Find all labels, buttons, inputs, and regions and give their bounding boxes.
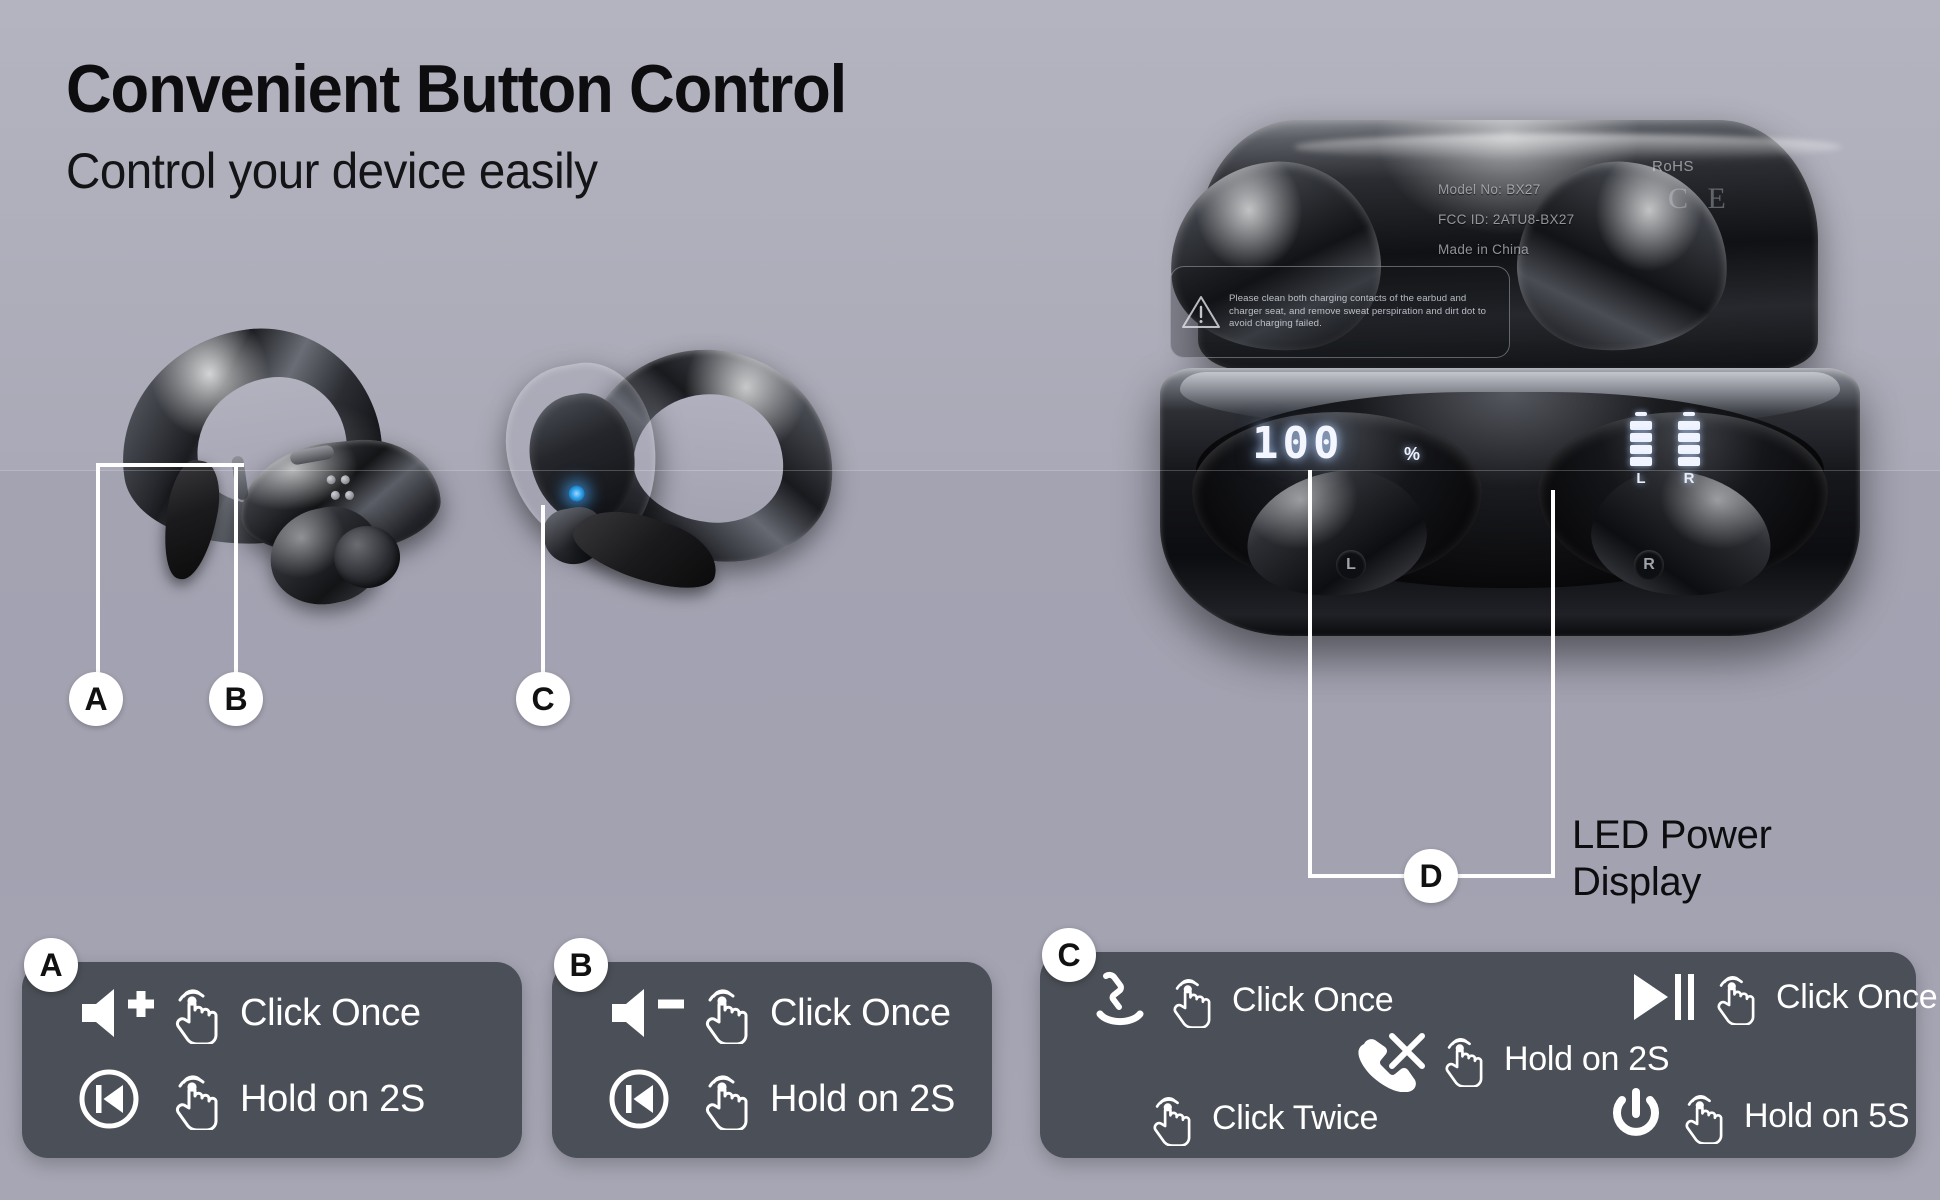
leader-line-d-right	[1551, 490, 1555, 878]
case-led-percent-display: 100 %	[1252, 418, 1492, 494]
seat-label-right: R	[1634, 550, 1664, 580]
earbud-mic-grill	[326, 472, 356, 505]
led-power-display-line2: Display	[1572, 859, 1772, 906]
battery-bar-label-left: L	[1636, 470, 1645, 487]
earbud-ear-tip	[334, 526, 400, 588]
tap-hand-icon	[1170, 972, 1218, 1028]
card-tag-c: C	[1042, 928, 1096, 982]
battery-bar-right: R	[1678, 412, 1700, 508]
ce-mark: C E	[1668, 182, 1732, 216]
card-a-row-2-text: Hold on 2S	[240, 1078, 425, 1121]
phone-reject-icon	[1352, 1026, 1428, 1092]
battery-bar-left: L	[1630, 412, 1652, 508]
card-c-row-reject-text: Hold on 2S	[1504, 1040, 1669, 1079]
card-c-row-reject: Hold on 2S	[1352, 1026, 1669, 1092]
card-c-row-playpause-text: Click Once	[1776, 978, 1937, 1017]
tap-hand-icon	[172, 1068, 226, 1130]
tap-hand-icon	[1442, 1031, 1490, 1087]
rohs-mark: RoHS	[1652, 158, 1694, 175]
tap-hand-icon	[1714, 969, 1762, 1025]
case-warning-text: Please clean both charging contacts of t…	[1229, 293, 1499, 330]
charging-case-lid: Model No: BX27 FCC ID: 2ATU8-BX27 Made i…	[1198, 120, 1818, 370]
card-c-row-answer: Click Once	[1090, 968, 1393, 1032]
front-earbud-render	[500, 340, 900, 660]
tap-hand-icon	[702, 1068, 756, 1130]
callout-bubble-d: D	[1404, 849, 1458, 903]
battery-bar-label-right: R	[1684, 470, 1695, 487]
battery-bar-segments-left	[1630, 412, 1652, 466]
phone-answer-icon	[1090, 968, 1156, 1032]
callout-bubble-a: A	[69, 672, 123, 726]
leader-line-a-horizontal	[96, 463, 244, 467]
callout-letter-d: D	[1419, 858, 1442, 895]
led-power-display-label: LED Power Display	[1572, 812, 1772, 906]
card-c-row-redial-text: Click Twice	[1212, 1099, 1378, 1138]
previous-track-icon	[78, 1068, 158, 1130]
leader-line-d-left	[1308, 470, 1312, 878]
tap-hand-icon	[1150, 1090, 1198, 1146]
play-pause-icon	[1628, 966, 1700, 1028]
tap-hand-icon	[702, 982, 756, 1044]
percent-symbol: %	[1404, 444, 1420, 465]
led-power-display-line1: LED Power	[1572, 812, 1772, 859]
leader-line-c-vertical	[541, 505, 545, 673]
card-c-row-power: Hold on 5S	[1604, 1084, 1909, 1148]
lid-highlight	[1294, 134, 1842, 160]
leader-line-a-vertical	[96, 463, 100, 673]
charging-case-render: Model No: BX27 FCC ID: 2ATU8-BX27 Made i…	[1140, 120, 1880, 660]
card-b-row-1: Click Once	[608, 982, 951, 1044]
left-earbud-render	[120, 330, 520, 660]
card-b-row-1-text: Click Once	[770, 992, 951, 1035]
card-b-row-2: Hold on 2S	[608, 1068, 955, 1130]
callout-bubble-b: B	[209, 672, 263, 726]
battery-percent-value: 100	[1252, 418, 1343, 469]
card-c-row-playpause: Click Once	[1628, 966, 1937, 1028]
leader-line-b-vertical	[234, 463, 238, 673]
card-a-row-2: Hold on 2S	[78, 1068, 425, 1130]
case-warning-label: Please clean both charging contacts of t…	[1170, 266, 1510, 358]
card-b-row-2-text: Hold on 2S	[770, 1078, 955, 1121]
power-icon	[1604, 1084, 1668, 1148]
card-tag-b: B	[554, 938, 608, 992]
volume-up-icon	[78, 984, 158, 1042]
page-title: Convenient Button Control	[66, 50, 846, 128]
previous-track-icon	[608, 1068, 688, 1130]
tap-hand-icon	[1682, 1088, 1730, 1144]
battery-bar-segments-right	[1678, 412, 1700, 466]
case-made-in-line: Made in China	[1438, 235, 1708, 265]
card-c-row-power-text: Hold on 5S	[1744, 1097, 1909, 1136]
warning-triangle-icon	[1181, 294, 1221, 330]
card-a-row-1-text: Click Once	[240, 992, 421, 1035]
callout-letter-c: C	[531, 681, 554, 718]
page-subtitle: Control your device easily	[66, 142, 598, 200]
card-tag-a: A	[24, 938, 78, 992]
callout-letter-a: A	[84, 681, 107, 718]
card-a-row-1: Click Once	[78, 982, 421, 1044]
card-c-row-answer-text: Click Once	[1232, 981, 1393, 1020]
infographic-stage: Convenient Button Control Control your d…	[0, 0, 1940, 1200]
callout-bubble-c: C	[516, 672, 570, 726]
card-c-row-redial: Click Twice	[1150, 1090, 1378, 1146]
seat-label-left: L	[1336, 550, 1366, 580]
callout-letter-b: B	[224, 681, 247, 718]
case-led-bar-display: L R	[1580, 412, 1750, 508]
volume-down-icon	[608, 984, 688, 1042]
tap-hand-icon	[172, 982, 226, 1044]
